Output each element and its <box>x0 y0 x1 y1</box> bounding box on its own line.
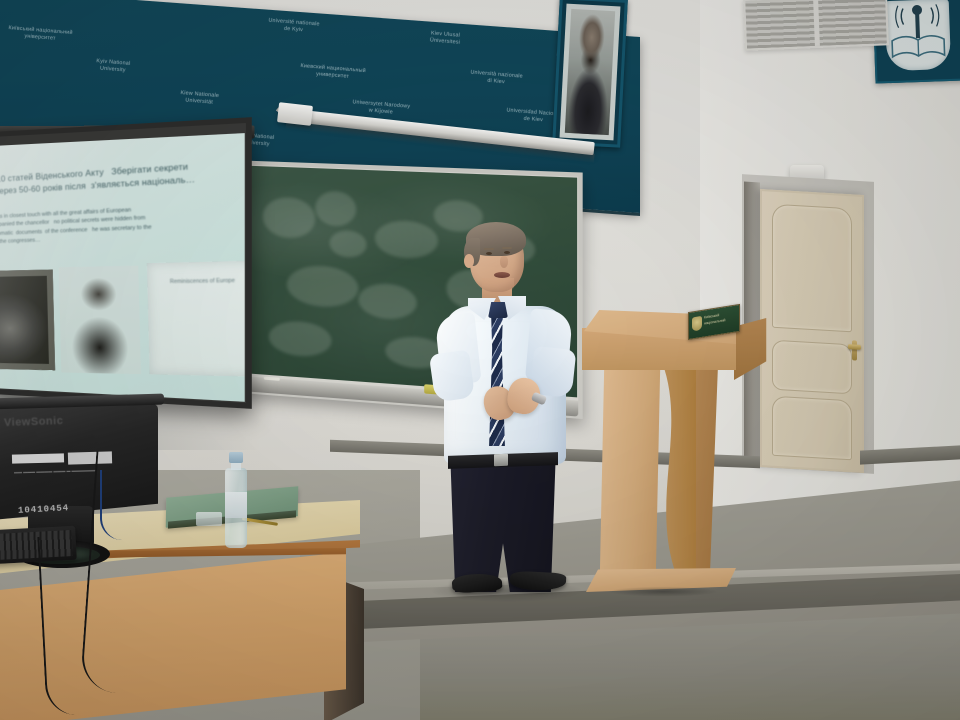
classroom-door[interactable] <box>760 189 864 473</box>
door-panel-middle <box>772 340 852 395</box>
eyebrow-left <box>484 248 494 250</box>
sleeve-left <box>429 349 475 402</box>
bottle-neck <box>231 462 241 470</box>
slide-heading: …р 110 статей Віденського Акту Зберігати… <box>0 155 245 198</box>
lectern-front-column <box>600 366 660 578</box>
shoe-left <box>451 572 502 593</box>
chalk-smudge <box>269 320 332 359</box>
portrait-image <box>565 9 615 135</box>
banner-text-item: Kiev Ulusal Üniversitesi <box>429 30 460 47</box>
bottle-cap <box>229 452 243 463</box>
banner-text-item: Université nationale de Kyiv <box>268 18 320 37</box>
slide-engraved-portrait <box>59 266 141 375</box>
desk-small-item <box>196 512 222 526</box>
door-panel-bottom <box>772 396 852 461</box>
cable <box>100 470 122 540</box>
slide-book-title: Reminiscences of Europe <box>158 276 245 287</box>
slide-historical-photo <box>0 270 55 371</box>
emblem-book-icon <box>885 0 951 71</box>
door-escutcheon <box>852 340 857 360</box>
chalk-smudge <box>263 196 315 239</box>
banner-text-item: Kyiv National University <box>95 58 130 75</box>
chalk-smudge <box>330 230 367 258</box>
bottle-label <box>225 492 247 518</box>
lamp-end-cap <box>277 102 313 126</box>
banner-text-item: Киевский национальный университет <box>300 63 367 83</box>
projection-screen: …р 110 статей Віденського Акту Зберігати… <box>0 117 252 409</box>
university-crest-icon <box>692 316 702 332</box>
tie-knot <box>488 302 508 318</box>
slide-image-row: Reminiscences of Europe <box>0 263 245 377</box>
monitor-brand-label: ViewSonic <box>4 415 64 429</box>
presenter <box>424 222 584 602</box>
water-bottle <box>224 452 248 548</box>
banner-text-item: Università nazionale di Kiev <box>470 69 524 88</box>
screen-surface: …р 110 статей Віденського Акту Зберігати… <box>0 133 245 402</box>
door-panel-top <box>772 204 852 333</box>
vent-divider <box>813 0 820 46</box>
banner-text-item: Kiew Nationale Universität <box>179 90 219 108</box>
chalk-smudge <box>315 190 356 226</box>
chalk-smudge <box>287 264 358 309</box>
chin <box>482 278 514 294</box>
banner-text-item: Київський національний університет <box>8 25 73 45</box>
portrait-mat <box>560 4 621 141</box>
lectern: Київський національний <box>582 300 758 590</box>
slide-body-text: …ents was in closest touch with all the … <box>0 200 245 248</box>
belt-buckle <box>494 454 508 466</box>
monitor-sticker-1 <box>12 453 64 463</box>
door-handle[interactable] <box>848 344 861 350</box>
wall-ventilation-grille <box>743 0 889 51</box>
founder-portrait <box>552 0 628 148</box>
slide-book-page: Reminiscences of Europe <box>147 261 245 377</box>
lecture-hall-photo: Київський національний університетKyiv N… <box>0 0 960 720</box>
nose <box>500 256 508 268</box>
lectern-plaque-line1: Київський національний <box>704 311 736 328</box>
ear <box>464 254 474 268</box>
emblem-shield <box>885 0 951 71</box>
eye-left <box>486 252 492 255</box>
chalk-smudge <box>358 282 416 320</box>
eye-right <box>504 251 510 254</box>
eyebrow-right <box>502 247 512 249</box>
